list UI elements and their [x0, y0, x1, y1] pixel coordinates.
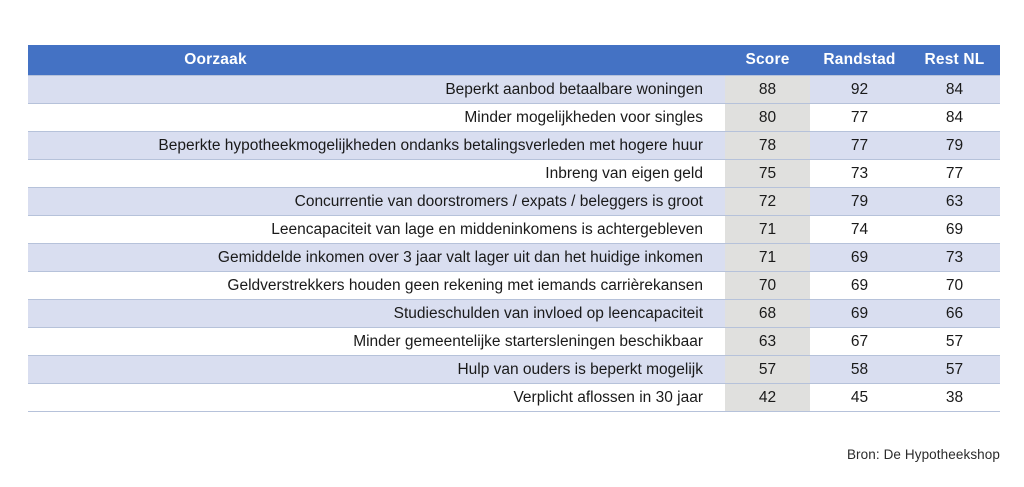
cell-score: 75	[725, 160, 810, 188]
cell-randstad: 77	[810, 104, 909, 132]
cell-randstad: 92	[810, 76, 909, 104]
cell-cause: Leencapaciteit van lage en middeninkomen…	[28, 216, 725, 244]
table-row: Minder gemeentelijke startersleningen be…	[28, 328, 1000, 356]
cell-score: 71	[725, 244, 810, 272]
cell-score: 57	[725, 356, 810, 384]
column-header-cause: Oorzaak	[28, 45, 725, 76]
cell-score: 70	[725, 272, 810, 300]
table-row: Beperkte hypotheekmogelijkheden ondanks …	[28, 132, 1000, 160]
cell-randstad: 73	[810, 160, 909, 188]
table-row: Leencapaciteit van lage en middeninkomen…	[28, 216, 1000, 244]
table-row: Verplicht aflossen in 30 jaar424538	[28, 384, 1000, 412]
cell-randstad: 58	[810, 356, 909, 384]
cell-rest-nl: 84	[909, 104, 1000, 132]
cell-rest-nl: 73	[909, 244, 1000, 272]
table-row: Hulp van ouders is beperkt mogelijk57585…	[28, 356, 1000, 384]
cell-randstad: 77	[810, 132, 909, 160]
cell-rest-nl: 70	[909, 272, 1000, 300]
table-row: Gemiddelde inkomen over 3 jaar valt lage…	[28, 244, 1000, 272]
table-row: Studieschulden van invloed op leencapaci…	[28, 300, 1000, 328]
column-header-randstad: Randstad	[810, 45, 909, 76]
source-attribution: Bron: De Hypotheekshop	[847, 447, 1000, 462]
cell-rest-nl: 57	[909, 328, 1000, 356]
cell-score: 88	[725, 76, 810, 104]
cell-rest-nl: 79	[909, 132, 1000, 160]
cell-rest-nl: 84	[909, 76, 1000, 104]
cell-cause: Beperkt aanbod betaalbare woningen	[28, 76, 725, 104]
column-header-rest-nl: Rest NL	[909, 45, 1000, 76]
table-row: Concurrentie van doorstromers / expats /…	[28, 188, 1000, 216]
cell-score: 68	[725, 300, 810, 328]
cell-cause: Verplicht aflossen in 30 jaar	[28, 384, 725, 412]
cell-score: 80	[725, 104, 810, 132]
table-body: Beperkt aanbod betaalbare woningen889284…	[28, 76, 1000, 412]
causes-table: Oorzaak Score Randstad Rest NL Beperkt a…	[28, 45, 1000, 412]
table-row: Geldverstrekkers houden geen rekening me…	[28, 272, 1000, 300]
cell-randstad: 74	[810, 216, 909, 244]
table-header-row: Oorzaak Score Randstad Rest NL	[28, 45, 1000, 76]
cell-cause: Studieschulden van invloed op leencapaci…	[28, 300, 725, 328]
cell-cause: Inbreng van eigen geld	[28, 160, 725, 188]
causes-table-container: Oorzaak Score Randstad Rest NL Beperkt a…	[28, 45, 1000, 412]
cell-rest-nl: 66	[909, 300, 1000, 328]
cell-randstad: 69	[810, 300, 909, 328]
table-row: Inbreng van eigen geld757377	[28, 160, 1000, 188]
cell-rest-nl: 38	[909, 384, 1000, 412]
column-header-score: Score	[725, 45, 810, 76]
cell-cause: Concurrentie van doorstromers / expats /…	[28, 188, 725, 216]
cell-rest-nl: 69	[909, 216, 1000, 244]
cell-randstad: 69	[810, 244, 909, 272]
cell-score: 63	[725, 328, 810, 356]
cell-cause: Hulp van ouders is beperkt mogelijk	[28, 356, 725, 384]
cell-score: 78	[725, 132, 810, 160]
cell-rest-nl: 63	[909, 188, 1000, 216]
cell-score: 72	[725, 188, 810, 216]
table-row: Minder mogelijkheden voor singles807784	[28, 104, 1000, 132]
cell-cause: Beperkte hypotheekmogelijkheden ondanks …	[28, 132, 725, 160]
cell-cause: Gemiddelde inkomen over 3 jaar valt lage…	[28, 244, 725, 272]
cell-cause: Minder gemeentelijke startersleningen be…	[28, 328, 725, 356]
cell-randstad: 69	[810, 272, 909, 300]
table-row: Beperkt aanbod betaalbare woningen889284	[28, 76, 1000, 104]
table-header: Oorzaak Score Randstad Rest NL	[28, 45, 1000, 76]
cell-rest-nl: 57	[909, 356, 1000, 384]
cell-cause: Geldverstrekkers houden geen rekening me…	[28, 272, 725, 300]
cell-cause: Minder mogelijkheden voor singles	[28, 104, 725, 132]
cell-randstad: 79	[810, 188, 909, 216]
cell-randstad: 45	[810, 384, 909, 412]
page-root: Oorzaak Score Randstad Rest NL Beperkt a…	[0, 0, 1024, 487]
cell-rest-nl: 77	[909, 160, 1000, 188]
cell-score: 42	[725, 384, 810, 412]
cell-score: 71	[725, 216, 810, 244]
cell-randstad: 67	[810, 328, 909, 356]
